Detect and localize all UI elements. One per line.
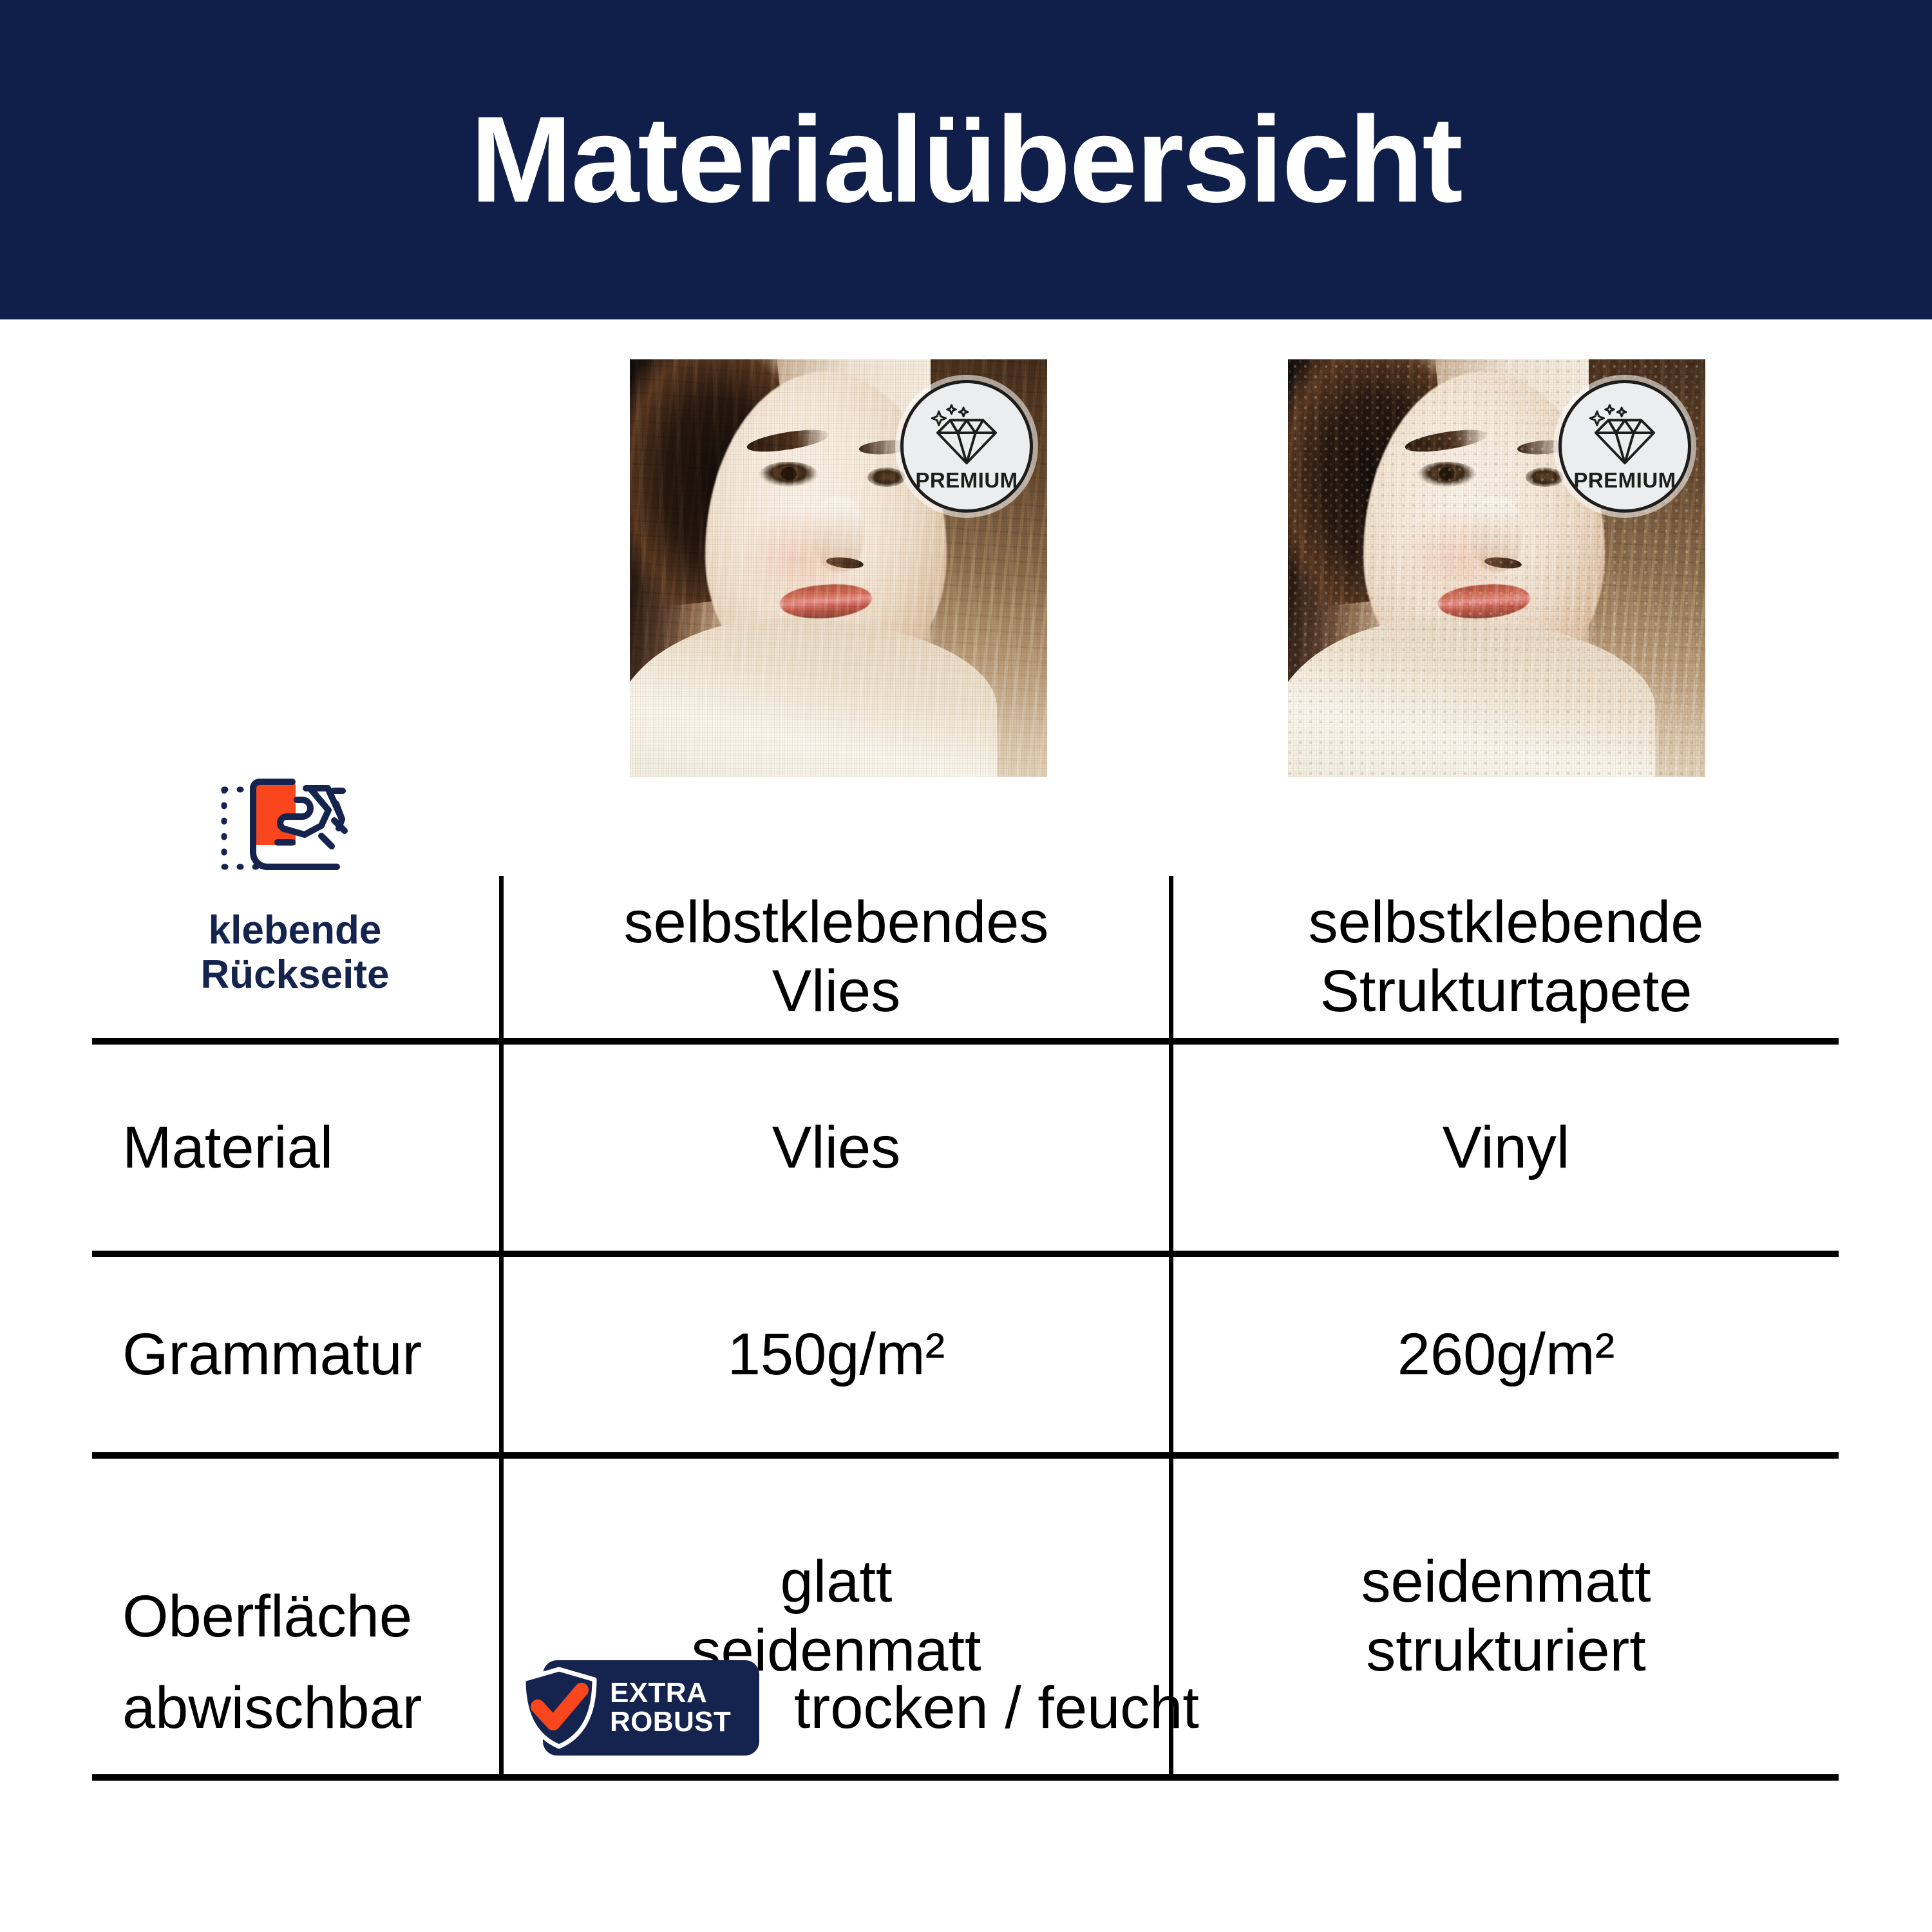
product-image-strukturtapete[interactable]: PREMIUM (1288, 359, 1705, 777)
extra-robust-line1: EXTRA (610, 1679, 731, 1708)
header-vlies-line2: Vlies (624, 957, 1049, 1026)
header-struktur-line1: selbstklebende (1309, 888, 1704, 957)
value-material-vlies: Vlies (772, 1113, 900, 1182)
table-cell-material-strukturtapete: Vinyl (1173, 1045, 1839, 1251)
premium-badge-label: PREMIUM (1573, 468, 1676, 493)
label-abwischbar: abwischbar (122, 1674, 422, 1743)
table-cell-header-vlies: selbstklebendes Vlies (504, 876, 1169, 1038)
product-image-vlies[interactable]: PREMIUM (630, 359, 1047, 777)
table-column-divider (499, 876, 504, 1779)
material-comparison-table: selbstklebendes Vlies selbstklebende Str… (92, 876, 1839, 1785)
label-material: Material (122, 1113, 333, 1182)
table-row-label-material: Material (92, 1045, 499, 1251)
value-grammatur-struktur: 260g/m² (1397, 1320, 1615, 1389)
header-banner: Materialübersicht (0, 0, 1932, 319)
table-cell-grammatur-vlies: 150g/m² (504, 1257, 1169, 1452)
peel-adhesive-backing-icon (208, 770, 382, 893)
table-cell-abwischbar-value: EXTRA ROBUST trocken / feucht (543, 1647, 1199, 1769)
table-row-label-grammatur: Grammatur (92, 1257, 499, 1452)
diamond-icon (929, 404, 1005, 466)
label-grammatur: Grammatur (122, 1320, 422, 1389)
value-abwischbar: trocken / feucht (794, 1674, 1199, 1743)
shield-check-icon (518, 1667, 600, 1749)
premium-badge: PREMIUM (1558, 380, 1691, 513)
table-row-label-abwischbar: abwischbar (92, 1642, 499, 1774)
diamond-icon (1587, 404, 1663, 466)
table-cell-material-vlies: Vlies (504, 1045, 1169, 1251)
value-material-struktur: Vinyl (1443, 1113, 1570, 1182)
premium-badge-label: PREMIUM (915, 468, 1018, 493)
page-title: Materialübersicht (470, 99, 1461, 221)
value-oberflaeche-vlies-line1: glatt (691, 1548, 981, 1616)
premium-badge: PREMIUM (900, 380, 1033, 513)
table-cell-grammatur-strukturtapete: 260g/m² (1173, 1257, 1839, 1452)
header-vlies-line1: selbstklebendes (624, 888, 1049, 957)
table-cell-header-strukturtapete: selbstklebende Strukturtapete (1173, 876, 1839, 1038)
table-bottom-border (92, 1774, 1839, 1781)
table-row-divider (92, 1038, 1839, 1045)
extra-robust-badge: EXTRA ROBUST (543, 1660, 759, 1756)
value-oberflaeche-struktur-line1: seidenmatt (1361, 1548, 1651, 1616)
extra-robust-line2: ROBUST (610, 1708, 731, 1737)
header-struktur-line2: Strukturtapete (1309, 957, 1704, 1026)
label-oberflaeche: Oberfläche (122, 1582, 412, 1651)
table-row-divider (92, 1452, 1839, 1459)
table-cell-oberflaeche-strukturtapete: seidenmatt strukturiert (1173, 1459, 1839, 1774)
table-row-divider (92, 1251, 1839, 1257)
value-grammatur-vlies: 150g/m² (728, 1320, 945, 1389)
table-column-divider (1169, 876, 1173, 1776)
value-oberflaeche-struktur-line2: strukturiert (1361, 1616, 1651, 1685)
